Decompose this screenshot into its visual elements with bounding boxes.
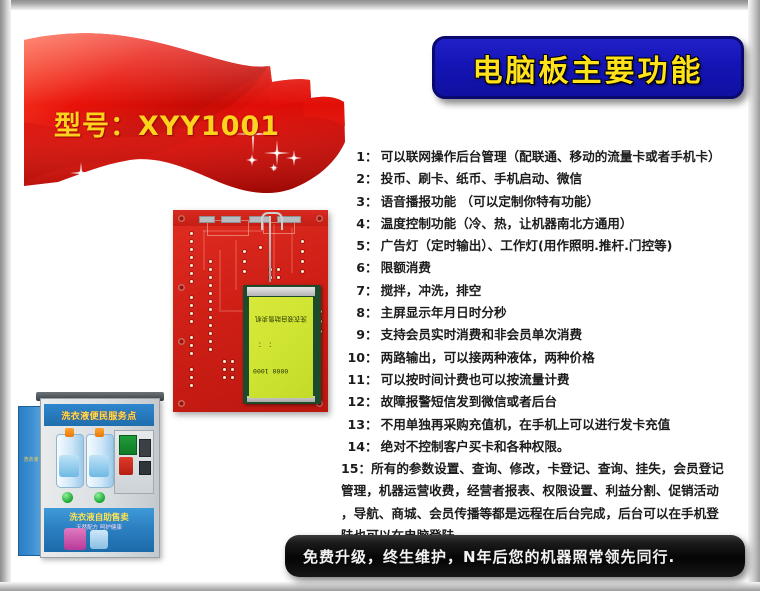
feature-separator: ： <box>365 327 378 342</box>
feature-list: 1：可以联网操作后台管理（配联通、移动的流量卡或者手机卡） 2：投币、刷卡、纸币… <box>341 146 745 547</box>
feature-text: 绝对不控制客户买卡和各种权限。 <box>381 439 570 454</box>
pcb-pad <box>190 368 193 371</box>
pcb-pad <box>209 308 212 311</box>
frame-bottom-edge <box>0 582 760 591</box>
pcb-probe-icon <box>269 216 271 282</box>
feature-number: 4 <box>341 213 365 235</box>
frame-right-edge <box>748 0 760 591</box>
feature-number: 8 <box>341 302 365 324</box>
detergent-jug-icon-secondary <box>90 530 108 549</box>
pcb-trace <box>235 240 237 290</box>
feature-separator: ： <box>365 171 378 186</box>
pcb-screw-hole <box>178 338 185 345</box>
feature-item: 10：两路输出，可以接两种液体，两种价格 <box>341 347 745 369</box>
pcb-board-photo: 洗衣液自助售卖机 ： ： 0000 1000 <box>173 210 328 412</box>
bill-acceptor-slot[interactable] <box>139 461 151 475</box>
feature-item: 14：绝对不控制客户买卡和各种权限。 <box>341 436 745 458</box>
feature-item: 4：温度控制功能（冷、热，让机器南北方通用） <box>341 213 745 235</box>
pcb-pad <box>190 304 193 307</box>
pcb-pad <box>190 280 193 283</box>
feature-number: 3 <box>341 191 365 213</box>
pcb-pad <box>231 360 234 363</box>
pcb-trace <box>219 250 221 310</box>
pcb-pad <box>223 376 226 379</box>
pcb-pad <box>277 268 280 271</box>
poster-page: 型号：XYY1001 电脑板主要功能 1：可以联网操作后台管理（配联通、移动的流… <box>0 0 760 591</box>
pcb-pad <box>190 336 193 339</box>
main-title-banner: 电脑板主要功能 <box>432 36 744 99</box>
feature-item: 3：语音播报功能 （可以定制你特有功能） <box>341 191 745 213</box>
pcb-screw-hole <box>316 215 323 222</box>
lcd-text-line: 0000 1000 <box>253 367 288 375</box>
pcb-pad <box>243 250 246 253</box>
pcb-pad <box>243 270 246 273</box>
vending-machine-lower-text: 洗衣液自助售卖 <box>44 511 154 523</box>
pcb-pad <box>209 260 212 263</box>
feature-number: 11 <box>341 369 365 391</box>
detergent-bottle-icon <box>56 434 84 488</box>
pcb-pad <box>190 256 193 259</box>
feature-separator: ： <box>365 439 378 454</box>
dispense-button-right[interactable] <box>94 492 105 503</box>
feature-text: 搅拌，冲洗，排空 <box>381 283 482 298</box>
vending-machine-lower-sign: 洗衣液自助售卖 天然配方 呵护健康 <box>44 508 154 552</box>
pcb-pad <box>190 344 193 347</box>
feature-text: 故障报警短信发到微信或者后台 <box>381 394 557 409</box>
feature-text: 限额消费 <box>381 260 431 275</box>
pcb-pad <box>223 360 226 363</box>
pcb-pad <box>190 376 193 379</box>
pcb-pad <box>209 268 212 271</box>
feature-number: 10 <box>341 347 365 369</box>
main-title-text: 电脑板主要功能 <box>473 46 704 90</box>
feature-line: ，导航、商城、会员传播等都是远程在后台完成，后台可以在手机登 <box>341 503 745 525</box>
pcb-pad <box>277 276 280 279</box>
pcb-screw-hole <box>178 215 185 222</box>
payment-screen <box>119 435 137 455</box>
pcb-pad <box>301 270 304 273</box>
feature-separator: ： <box>365 394 378 409</box>
pcb-connector <box>199 216 215 223</box>
feature-separator: ： <box>365 305 378 320</box>
pcb-probe-fork-icon <box>261 212 283 230</box>
pcb-pad <box>190 264 193 267</box>
feature-separator: ： <box>365 417 378 432</box>
pcb-pad <box>190 296 193 299</box>
feature-text: 两路输出，可以接两种液体，两种价格 <box>381 350 595 365</box>
model-number-label: 型号：XYY1001 <box>54 104 344 143</box>
feature-text: 可以联网操作后台管理（配联通、移动的流量卡或者手机卡） <box>381 149 721 164</box>
feature-text: 广告灯（定时输出）、工作灯(用作照明.推杆.门控等) <box>381 238 673 253</box>
lcd-text-line: 洗衣液自助售卖机 <box>255 315 307 323</box>
feature-separator: ： <box>365 194 378 209</box>
pcb-pad <box>190 240 193 243</box>
pcb-pad <box>243 260 246 263</box>
bottom-slogan-banner: 免费升级，终生维护，N年后您的机器照常领先同行. <box>285 535 745 577</box>
feature-number: 9 <box>341 324 365 346</box>
feature-item-long: 15：所有的参数设置、查询、修改，卡登记、查询、挂失，会员登记 管理，机器运营收… <box>341 458 745 547</box>
feature-text: 投币、刷卡、纸币、手机启动、微信 <box>381 171 583 186</box>
feature-item: 1：可以联网操作后台管理（配联通、移动的流量卡或者手机卡） <box>341 146 745 168</box>
feature-line: 15：所有的参数设置、查询、修改，卡登记、查询、挂失，会员登记 <box>341 458 745 480</box>
pcb-pad <box>301 250 304 253</box>
feature-separator: ： <box>365 238 378 253</box>
dispense-button-left[interactable] <box>62 492 73 503</box>
feature-item: 13：不用单独再采购充值机，在手机上可以进行发卡充值 <box>341 414 745 436</box>
vending-machine-control-panel[interactable] <box>114 430 154 494</box>
coin-slot[interactable] <box>139 439 151 457</box>
feature-item: 6：限额消费 <box>341 257 745 279</box>
feature-separator: ： <box>359 461 372 476</box>
pcb-pad <box>190 320 193 323</box>
red-flag-graphic: 型号：XYY1001 <box>18 22 353 212</box>
pcb-pad <box>259 246 262 249</box>
bottle-cap-icon <box>65 428 74 437</box>
feature-number: 12 <box>341 391 365 413</box>
feature-number: 14 <box>341 436 365 458</box>
pcb-pad <box>190 312 193 315</box>
feature-separator: ： <box>365 350 378 365</box>
pcb-pad <box>209 300 212 303</box>
frame-left-edge <box>0 0 11 591</box>
lcd-metal-bezel-top <box>247 287 315 296</box>
pcb-pad <box>209 324 212 327</box>
feature-separator: ： <box>365 283 378 298</box>
feature-item: 2：投币、刷卡、纸币、手机启动、微信 <box>341 168 745 190</box>
feature-separator: ： <box>365 372 378 387</box>
pcb-pad <box>209 316 212 319</box>
pcb-pad <box>190 352 193 355</box>
vending-machine-header-text: 洗衣液便民服务点 <box>61 409 136 422</box>
pcb-pad <box>209 292 212 295</box>
feature-text: 所有的参数设置、查询、修改，卡登记、查询、挂失，会员登记 <box>371 461 724 476</box>
pcb-trace <box>203 230 205 270</box>
pcb-pad <box>209 276 212 279</box>
pcb-pad <box>190 384 193 387</box>
detergent-bottle-icon <box>86 434 114 488</box>
feature-text: 支持会员实时消费和非会员单次消费 <box>381 327 583 342</box>
feature-item: 8：主屏显示年月日时分秒 <box>341 302 745 324</box>
detergent-jug-icon <box>64 528 86 550</box>
card-reader-red[interactable] <box>119 457 133 475</box>
feature-text: 语音播报功能 （可以定制你特有功能） <box>381 194 599 209</box>
pcb-pad <box>190 272 193 275</box>
feature-separator: ： <box>365 149 378 164</box>
feature-item: 12：故障报警短信发到微信或者后台 <box>341 391 745 413</box>
feature-number: 6 <box>341 257 365 279</box>
feature-item: 7：搅拌，冲洗，排空 <box>341 280 745 302</box>
bottle-cap-icon <box>95 428 104 437</box>
bottle-label <box>89 455 109 477</box>
lcd-display-module: 洗衣液自助售卖机 ： ： 0000 1000 <box>243 285 321 404</box>
lcd-screen: 洗衣液自助售卖机 ： ： 0000 1000 <box>249 297 313 398</box>
bottom-slogan-text: 免费升级，终生维护，N年后您的机器照常领先同行. <box>285 546 675 567</box>
feature-number: 5 <box>341 235 365 257</box>
pcb-screw-hole <box>178 284 185 291</box>
feature-item: 9：支持会员实时消费和非会员单次消费 <box>341 324 745 346</box>
feature-separator: ： <box>365 216 378 231</box>
feature-separator: ： <box>365 260 378 275</box>
feature-line: 管理，机器运营收费，经营者报表、权限设置、利益分割、促销活动 <box>341 480 745 502</box>
vending-machine-side-text: 洗衣液 <box>22 457 40 464</box>
feature-text: 可以按时间计费也可以按流量计费 <box>381 372 570 387</box>
pcb-pad <box>223 368 226 371</box>
feature-item: 5：广告灯（定时输出）、工作灯(用作照明.推杆.门控等) <box>341 235 745 257</box>
feature-number: 13 <box>341 414 365 436</box>
pcb-pad <box>209 284 212 287</box>
pcb-pad <box>209 340 212 343</box>
pcb-connector <box>221 216 241 223</box>
pcb-pad <box>209 332 212 335</box>
vending-machine-header-sign: 洗衣液便民服务点 <box>44 404 154 426</box>
pcb-pad <box>231 376 234 379</box>
feature-number: 2 <box>341 168 365 190</box>
pcb-pad <box>190 248 193 251</box>
pcb-pad <box>231 368 234 371</box>
feature-number: 7 <box>341 280 365 302</box>
vending-machine-photo: 洗衣液 洗衣液便民服务点 洗衣液自助售卖 天然配方 呵护健康 <box>18 390 181 562</box>
pcb-pad <box>209 348 212 351</box>
pcb-pad <box>190 232 193 235</box>
feature-number: 1 <box>341 146 365 168</box>
lcd-text-line: ： ： <box>255 341 272 349</box>
feature-text: 不用单独再采购充值机，在手机上可以进行发卡充值 <box>381 417 671 432</box>
feature-text: 温度控制功能（冷、热，让机器南北方通用） <box>381 216 633 231</box>
pcb-pad <box>301 240 304 243</box>
pcb-trace <box>291 228 293 273</box>
feature-text: 主屏显示年月日时分秒 <box>381 305 507 320</box>
pcb-pad <box>301 260 304 263</box>
feature-item: 11：可以按时间计费也可以按流量计费 <box>341 369 745 391</box>
frame-top-edge <box>0 0 760 10</box>
feature-number: 15 <box>341 461 359 476</box>
bottle-label <box>59 455 79 477</box>
